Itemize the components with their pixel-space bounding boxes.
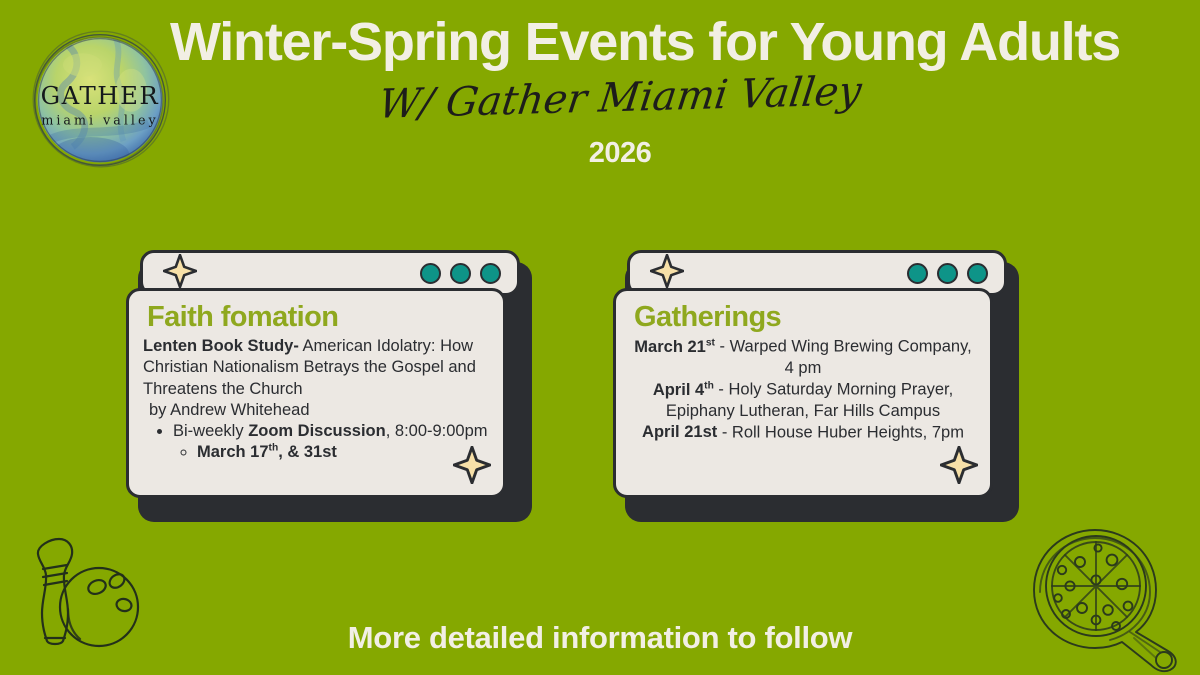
faith-bullet-list: Bi-weekly Zoom Discussion, 8:00-9:00pm M…: [143, 421, 489, 464]
card-body: Faith fomation Lenten Book Study- Americ…: [126, 288, 506, 498]
sub-bullet-ordinal: th: [269, 443, 279, 454]
event-date: April 4: [653, 381, 704, 399]
card-heading: Faith fomation: [147, 301, 489, 334]
event-date: April 21st: [642, 423, 717, 441]
list-item: April 21st - Roll House Huber Heights, 7…: [630, 422, 976, 444]
page-title: Winter-Spring Events for Young Adults: [140, 14, 1150, 71]
window-dots: [907, 263, 988, 284]
book-author: by Andrew Whitehead: [143, 400, 489, 421]
zoom-discussion-label: Zoom Discussion: [248, 422, 386, 440]
list-item: March 17th, & 31st: [197, 442, 489, 464]
list-item: Bi-weekly Zoom Discussion, 8:00-9:00pm M…: [173, 421, 489, 464]
book-study-label: Lenten Book Study-: [143, 337, 299, 355]
window-dot[interactable]: [967, 263, 988, 284]
bullet-time: , 8:00-9:00pm: [386, 422, 488, 440]
window-dot[interactable]: [450, 263, 471, 284]
event-detail: - Roll House Huber Heights, 7pm: [717, 423, 964, 441]
sub-bullet-rest: , & 31st: [278, 443, 337, 461]
window-dot[interactable]: [420, 263, 441, 284]
four-point-sparkle-icon: [650, 254, 684, 293]
logo-wordmark: GATHER: [41, 81, 160, 110]
window-dot[interactable]: [480, 263, 501, 284]
footer-note: More detailed information to follow: [0, 620, 1200, 656]
event-date: March 21: [634, 338, 706, 356]
event-date-ordinal: st: [706, 337, 715, 348]
card-content: March 21st - Warped Wing Brewing Company…: [630, 336, 976, 443]
card-faith-formation: Faith fomation Lenten Book Study- Americ…: [126, 250, 520, 498]
list-item: April 4th - Holy Saturday Morning Prayer…: [630, 379, 976, 422]
card-content: Lenten Book Study- American Idolatry: Ho…: [143, 336, 489, 463]
card-heading: Gatherings: [634, 301, 976, 334]
script-subtitle: W/ Gather Miami Valley: [297, 67, 942, 129]
bullet-prefix: Bi-weekly: [173, 422, 248, 440]
year-label: 2026: [430, 137, 810, 170]
four-point-sparkle-icon: [940, 446, 978, 489]
card-body: Gatherings March 21st - Warped Wing Brew…: [613, 288, 993, 498]
four-point-sparkle-icon: [163, 254, 197, 293]
book-study-line: Lenten Book Study- American Idolatry: Ho…: [143, 336, 489, 399]
event-detail: - Warped Wing Brewing Company, 4 pm: [715, 338, 972, 377]
event-date-ordinal: th: [704, 380, 714, 391]
card-gatherings: Gatherings March 21st - Warped Wing Brew…: [613, 250, 1007, 498]
window-dot[interactable]: [937, 263, 958, 284]
logo-tagline: miami valley: [41, 112, 158, 127]
faith-sub-bullet-list: March 17th, & 31st: [173, 442, 489, 464]
list-item: March 21st - Warped Wing Brewing Company…: [630, 336, 976, 379]
four-point-sparkle-icon: [453, 446, 491, 489]
window-dots: [420, 263, 501, 284]
window-dot[interactable]: [907, 263, 928, 284]
sub-bullet-date: March 17: [197, 443, 269, 461]
